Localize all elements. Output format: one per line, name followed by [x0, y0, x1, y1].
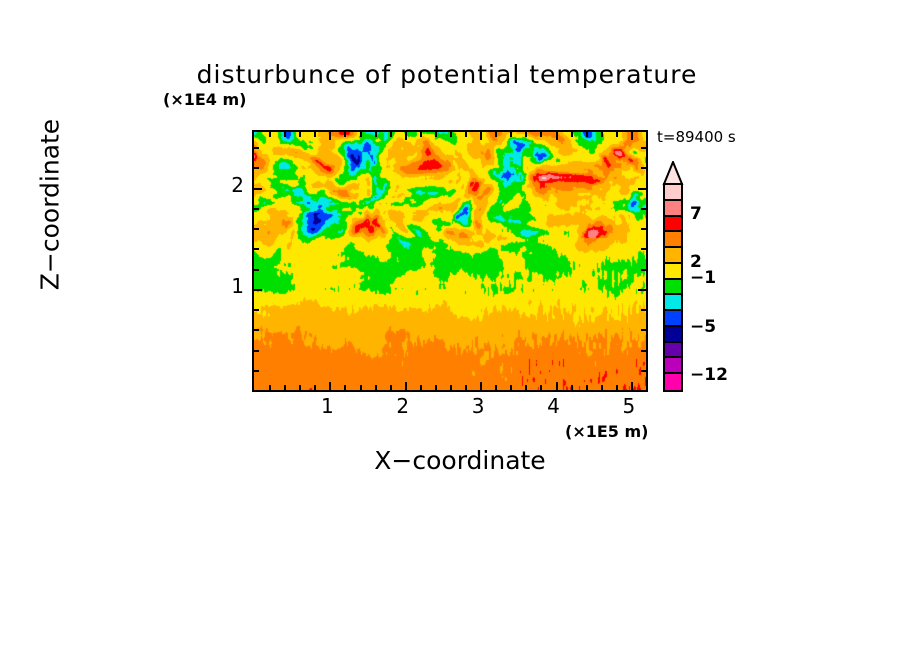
- y-tick-mark: [254, 228, 259, 230]
- x-axis-unit-label: (×1E5 m): [565, 422, 648, 441]
- x-tick-mark: [601, 132, 603, 137]
- colorbar-tick-label: −12: [690, 365, 728, 385]
- y-tick-mark: [254, 147, 259, 149]
- y-tick-mark: [641, 228, 646, 230]
- colorbar-band: [665, 232, 681, 248]
- x-tick-mark: [525, 132, 527, 137]
- x-tick-mark: [616, 132, 618, 137]
- x-tick-mark: [540, 385, 542, 390]
- y-axis-label: Z−coordinate: [36, 95, 65, 315]
- y-tick-mark: [254, 350, 259, 352]
- x-tick-mark: [420, 385, 422, 390]
- x-tick-mark: [299, 385, 301, 390]
- x-tick-mark: [510, 385, 512, 390]
- colorbar-band: [665, 374, 681, 390]
- x-tick-mark: [269, 132, 271, 137]
- colorbar: [663, 183, 683, 392]
- y-tick-mark: [254, 309, 259, 311]
- y-tick-label: 1: [214, 274, 244, 298]
- colorbar-tick-label: −1: [690, 268, 716, 288]
- x-tick-mark: [420, 132, 422, 137]
- y-tick-mark: [254, 167, 259, 169]
- colorbar-band: [665, 311, 681, 327]
- chart-title: disturbunce of potential temperature: [0, 60, 904, 89]
- y-tick-mark: [641, 208, 646, 210]
- timestamp-label: t=89400 s: [657, 128, 736, 146]
- x-tick-mark: [375, 132, 377, 137]
- y-tick-mark: [641, 248, 646, 250]
- x-tick-mark: [314, 132, 316, 137]
- x-tick-mark: [435, 385, 437, 390]
- y-tick-mark: [641, 269, 646, 271]
- x-tick-mark: [344, 132, 346, 137]
- colorbar-band: [665, 358, 681, 374]
- x-tick-mark: [495, 385, 497, 390]
- x-tick-mark: [601, 385, 603, 390]
- x-tick-mark: [360, 132, 362, 137]
- x-tick-mark: [269, 385, 271, 390]
- y-tick-mark: [254, 269, 259, 271]
- x-tick-label: 2: [388, 394, 418, 418]
- x-tick-mark: [480, 382, 482, 390]
- colorbar-band: [665, 248, 681, 264]
- colorbar-band: [665, 343, 681, 359]
- y-tick-mark: [254, 188, 262, 190]
- x-tick-mark: [465, 385, 467, 390]
- x-tick-label: 5: [614, 394, 644, 418]
- x-tick-mark: [284, 385, 286, 390]
- x-tick-label: 3: [463, 394, 493, 418]
- y-tick-mark: [641, 309, 646, 311]
- x-tick-mark: [556, 382, 558, 390]
- x-tick-mark: [390, 132, 392, 137]
- x-tick-mark: [299, 132, 301, 137]
- x-tick-mark: [435, 132, 437, 137]
- x-axis-label: X−coordinate: [290, 446, 630, 475]
- x-tick-mark: [571, 132, 573, 137]
- x-tick-mark: [329, 382, 331, 390]
- y-tick-mark: [641, 350, 646, 352]
- x-tick-mark: [465, 132, 467, 137]
- y-tick-mark: [254, 248, 259, 250]
- contour-plot-area: [252, 130, 648, 392]
- y-tick-mark: [638, 289, 646, 291]
- x-tick-mark: [616, 385, 618, 390]
- x-tick-mark: [344, 385, 346, 390]
- x-tick-mark: [480, 132, 482, 140]
- x-tick-mark: [329, 132, 331, 140]
- x-tick-mark: [556, 132, 558, 140]
- x-tick-mark: [495, 132, 497, 137]
- x-tick-mark: [390, 385, 392, 390]
- x-tick-mark: [586, 385, 588, 390]
- x-tick-mark: [405, 382, 407, 390]
- y-tick-mark: [641, 329, 646, 331]
- y-axis-unit-label: (×1E4 m): [163, 90, 246, 109]
- x-tick-mark: [540, 132, 542, 137]
- x-tick-label: 4: [539, 394, 569, 418]
- x-tick-mark: [360, 385, 362, 390]
- x-tick-mark: [571, 385, 573, 390]
- colorbar-extend-arrow-icon: [661, 161, 685, 185]
- y-tick-label: 2: [214, 173, 244, 197]
- colorbar-band: [665, 201, 681, 217]
- x-tick-mark: [284, 132, 286, 137]
- colorbar-band: [665, 280, 681, 296]
- x-tick-mark: [450, 385, 452, 390]
- x-tick-mark: [405, 132, 407, 140]
- y-tick-mark: [254, 208, 259, 210]
- colorbar-tick-label: 7: [690, 204, 702, 224]
- y-tick-mark: [641, 167, 646, 169]
- x-tick-mark: [631, 132, 633, 140]
- colorbar-band: [665, 327, 681, 343]
- x-tick-mark: [375, 385, 377, 390]
- x-tick-mark: [510, 132, 512, 137]
- x-tick-mark: [525, 385, 527, 390]
- colorbar-band: [665, 264, 681, 280]
- colorbar-band: [665, 295, 681, 311]
- x-tick-mark: [631, 382, 633, 390]
- y-tick-mark: [641, 147, 646, 149]
- colorbar-band: [665, 217, 681, 233]
- chart-title-text: disturbunce of potential temperature: [197, 60, 698, 89]
- x-tick-mark: [586, 132, 588, 137]
- x-tick-label: 1: [312, 394, 342, 418]
- x-tick-mark: [450, 132, 452, 137]
- y-tick-mark: [254, 370, 259, 372]
- colorbar-tick-label: −5: [690, 317, 716, 337]
- y-tick-mark: [638, 188, 646, 190]
- y-tick-mark: [254, 329, 259, 331]
- x-tick-mark: [314, 385, 316, 390]
- y-tick-mark: [641, 370, 646, 372]
- colorbar-band: [665, 185, 681, 201]
- y-tick-mark: [254, 289, 262, 291]
- temperature-field-heatmap: [254, 132, 646, 390]
